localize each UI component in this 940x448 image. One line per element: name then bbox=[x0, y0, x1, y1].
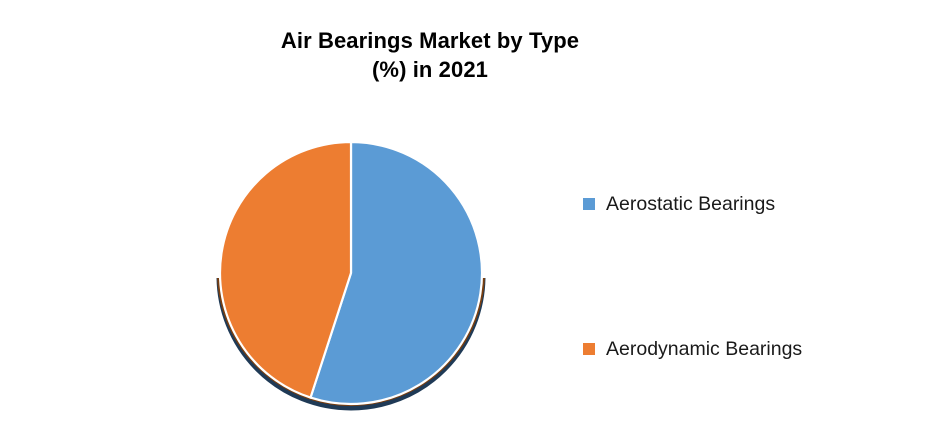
legend-item-label: Aerodynamic Bearings bbox=[606, 336, 802, 362]
pie-plot-area bbox=[206, 128, 506, 428]
legend-square-marker-icon bbox=[583, 343, 595, 355]
chart-title: Air Bearings Market by Type (%) in 2021 bbox=[150, 26, 710, 84]
chart-title-line-1: Air Bearings Market by Type bbox=[150, 26, 710, 55]
chart-legend: Aerostatic Bearings Aerodynamic Bearings bbox=[575, 168, 925, 388]
pie-svg bbox=[206, 128, 506, 428]
legend-item-label: Aerostatic Bearings bbox=[606, 191, 775, 217]
legend-item-aerodynamic[interactable]: Aerodynamic Bearings bbox=[575, 336, 802, 362]
legend-item-aerostatic[interactable]: Aerostatic Bearings bbox=[575, 191, 775, 217]
pie-chart-figure: Air Bearings Market by Type (%) in 2021 bbox=[0, 0, 940, 448]
chart-title-line-2: (%) in 2021 bbox=[150, 55, 710, 84]
legend-square-marker-icon bbox=[583, 198, 595, 210]
pie-slices bbox=[220, 142, 482, 404]
